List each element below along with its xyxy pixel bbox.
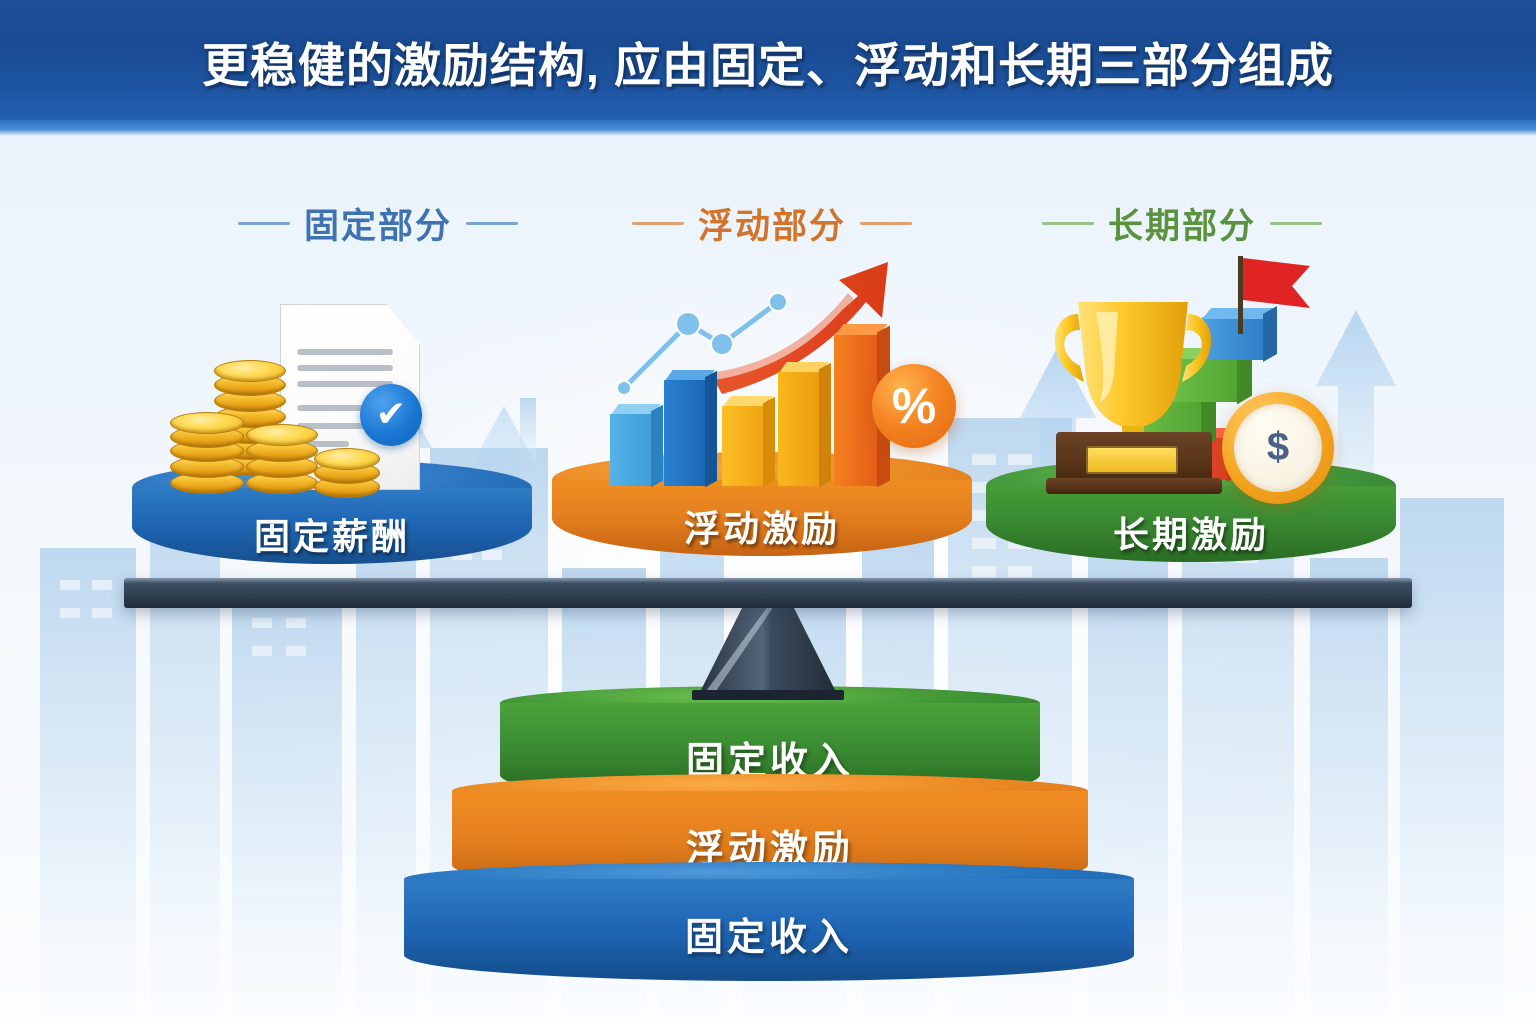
tier-label-bottom: 固定收入 bbox=[404, 906, 1134, 961]
percent-badge-icon: % bbox=[872, 364, 956, 448]
doc-line bbox=[297, 349, 393, 355]
pyramid-tier-bottom: 固定收入 bbox=[404, 862, 1134, 984]
platform-label-longterm-reward: 长期激励 bbox=[986, 506, 1396, 558]
section-header-longterm: 长期部分 bbox=[1042, 198, 1322, 249]
section-label-fixed: 固定部分 bbox=[304, 198, 452, 249]
divider-line-left bbox=[238, 222, 290, 225]
divider-line-right bbox=[466, 222, 518, 225]
check-glyph: ✔ bbox=[376, 396, 406, 432]
section-label-variable: 浮动部分 bbox=[698, 198, 846, 249]
clock-face: $ bbox=[1234, 404, 1321, 491]
red-flag-icon bbox=[1214, 250, 1334, 346]
bar-2 bbox=[664, 370, 706, 486]
divider-line-right bbox=[1270, 222, 1322, 225]
divider-line-left bbox=[1042, 222, 1094, 225]
infographic-canvas: 更稳健的激励结构, 应由固定、浮动和长期三部分组成 固定部分 浮动部分 长期部分… bbox=[0, 0, 1536, 1024]
dollar-glyph: $ bbox=[1267, 425, 1289, 470]
bar-front bbox=[722, 406, 764, 486]
platform-label-fixed-pay: 固定薪酬 bbox=[132, 508, 532, 560]
doc-line bbox=[297, 365, 393, 371]
icon-group-growth-chart: % bbox=[596, 252, 966, 490]
bar-front bbox=[610, 414, 652, 486]
title-bar: 更稳健的激励结构, 应由固定、浮动和长期三部分组成 bbox=[0, 0, 1536, 122]
trophy-base-foot bbox=[1046, 478, 1222, 494]
section-header-variable: 浮动部分 bbox=[632, 198, 912, 249]
coin-stack-small bbox=[314, 450, 380, 496]
divider-line-left bbox=[632, 222, 684, 225]
bar-side bbox=[651, 405, 663, 487]
divider-line-right bbox=[860, 222, 912, 225]
doc-line bbox=[297, 405, 365, 411]
percent-glyph: % bbox=[892, 377, 936, 435]
bar-side bbox=[819, 363, 831, 487]
dollar-clock-icon: $ bbox=[1222, 392, 1334, 504]
bar-side bbox=[763, 397, 775, 487]
bar-4 bbox=[778, 362, 820, 486]
coin-stack-mid bbox=[246, 420, 318, 494]
bar-3 bbox=[722, 396, 764, 486]
blue-check-badge-icon: ✔ bbox=[360, 384, 422, 446]
icon-group-trophy-and-clock: $ bbox=[1024, 252, 1368, 492]
bar-side bbox=[705, 371, 717, 487]
section-label-longterm: 长期部分 bbox=[1108, 198, 1256, 249]
trophy-plate bbox=[1086, 446, 1178, 474]
coin-stack-left bbox=[170, 418, 244, 494]
section-header-fixed: 固定部分 bbox=[238, 198, 518, 249]
bar-1 bbox=[610, 404, 652, 486]
icon-group-coins-and-contract: ✔ bbox=[168, 292, 468, 492]
fulcrum bbox=[686, 604, 850, 702]
platform-label-variable-reward: 浮动激励 bbox=[552, 500, 972, 552]
bar-front bbox=[664, 380, 706, 486]
page-title: 更稳健的激励结构, 应由固定、浮动和长期三部分组成 bbox=[202, 27, 1334, 96]
bar-front bbox=[778, 372, 820, 486]
